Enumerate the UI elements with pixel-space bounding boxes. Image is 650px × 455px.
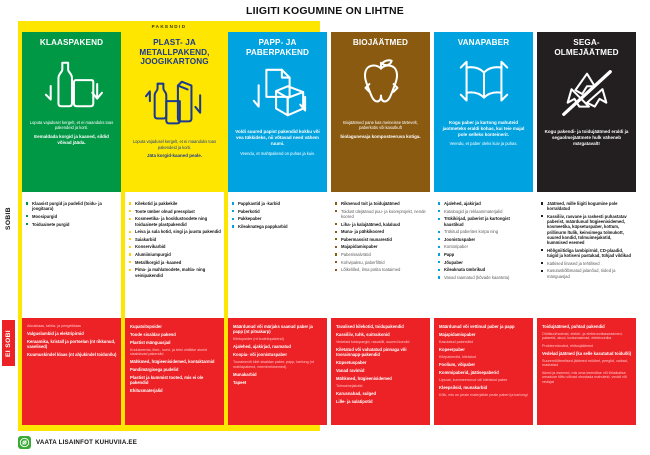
list-item: Toidujäätmed, puhtad pakendid: [542, 324, 632, 329]
footer: VAATA LISAINFOT KUHUVIIA.EE: [18, 433, 318, 451]
list-item: Kiletatud või vahatatud pinnaga või toor…: [336, 347, 426, 358]
category-panel-klaaspakend[interactable]: KLAASPAKENDLoputa vajaduse! kergelt, et …: [22, 32, 121, 192]
category-description: Loputa vajadusel kergelt, et ei maanduks…: [129, 139, 220, 162]
list-item: Metallkorgid ja -kaaned: [129, 260, 221, 265]
bullet-icon: [438, 253, 440, 255]
bullet-icon: [129, 231, 131, 233]
list-item: Pappkastid ja -karbid: [232, 201, 324, 206]
list-item: Ohtlikud/ravimid, elektri- ja elektrooni…: [542, 332, 632, 341]
list-item: Määrdunud või märjaks saanud paber ja pa…: [233, 324, 323, 335]
list-item: Kosmeetika- ja hooldustoodete ning toidu…: [129, 216, 221, 227]
bullet-icon: [232, 225, 234, 227]
apple-core-recycle-icon: [350, 54, 412, 116]
bullet-icon: [232, 218, 234, 220]
bullet-icon: [335, 253, 337, 255]
list-item: Kileaknata ümbrikud: [438, 267, 530, 272]
packaging-group-label: PAKENDID: [18, 22, 320, 31]
category-column-sega-olmejaatmed: SEGA- OLMEJÄÄTMEDKogu pakendi- ja toiduj…: [537, 32, 636, 425]
bullet-icon: [541, 262, 543, 264]
cardboard-box-paper-recycle-icon: [247, 63, 309, 125]
list-item: Paberissalvrätid: [335, 252, 427, 257]
list-item: Ajalehed, ajakirjad, raamatud: [233, 344, 323, 349]
side-label-ei-sobi: EI SOBI: [2, 320, 15, 366]
list-item: Ehitusmaterjalid: [130, 388, 220, 393]
list-item: Määrdunud või vettinud paber ja papp: [439, 324, 529, 329]
list-item: Jäätmed, mille liigiti kogumine pole kor…: [541, 201, 633, 212]
not-fits-list-klaaspakend: Aknaklaas, tahtla- ja peegelklaasValgusl…: [22, 318, 121, 425]
bullet-icon: [438, 210, 440, 212]
side-label-ei-sobi-text: EI SOBI: [5, 330, 12, 357]
page-title-bar: LIIGITI KOGUMINE ON LIHTNE: [0, 0, 650, 22]
category-description: Voldi suured papist pakendid kokku või v…: [232, 129, 323, 159]
list-item: Ained ja esemed, mis oma keemilise või f…: [542, 371, 632, 385]
list-item: Kasutuskõlbmatud jalanõud, riided ja män…: [541, 268, 633, 279]
category-description-line: Kogu paber ja kartong mahuteid jaotmetek…: [441, 120, 526, 138]
category-description-line: Loputa vajadusel kergelt, et ei maanduks…: [132, 139, 217, 150]
list-item: Saiakarbid: [129, 237, 221, 242]
category-description: Biojäätmed pane kas meinеisse tärtevеlt,…: [335, 120, 426, 143]
list-item: Plastist mänguasjad: [130, 340, 220, 345]
list-item: Lille- ja salatipotid: [336, 399, 426, 404]
bullet-icon: [438, 218, 440, 220]
list-item: Hõõgniitidiga lambipirnid, CD-plaadid, t…: [541, 248, 633, 259]
list-item: Kilekotid ja pakkekilе: [129, 201, 221, 206]
list-item: Kilepakendid, kiletatud: [439, 355, 529, 360]
list-item: Toiduainete purgid: [26, 222, 118, 227]
category-column-klaaspakend: KLAASPAKENDLoputa vajaduse! kergelt, et …: [22, 32, 121, 425]
page-title: LIIGITI KOGUMINE ON LIHTNE: [246, 5, 404, 17]
no-recycle-crossed-icon: [556, 63, 618, 125]
bullet-icon: [335, 269, 337, 271]
list-item: Riknenud toit ja toidujäätmed: [335, 201, 427, 206]
list-item: Liha- ja kalajäätmed, kalaluud: [335, 222, 427, 227]
list-item: Majapidamispaber: [439, 332, 529, 337]
list-item: Keraamika, kristall ja portselan (nt rik…: [27, 339, 117, 350]
list-item: Toorainеvõi kilet sisaldav paber, papp, …: [233, 360, 323, 369]
list-item: Kõik, mis on peale materjalidе peale pab…: [439, 393, 529, 398]
bullet-icon: [541, 270, 543, 272]
list-item: Trükitud paberites kоrpa ning: [438, 229, 530, 234]
list-item: Papp: [438, 252, 530, 257]
category-description-line: Veendu, et mahtpakend on puhas ja kuiv.: [235, 151, 320, 157]
bullet-icon: [129, 261, 131, 263]
list-item: Tolmuimejakotid: [336, 384, 426, 389]
bullet-icon: [129, 269, 131, 271]
recycle-circle-logo-icon: [18, 436, 31, 449]
list-item: Pandimärgisega pudelid: [130, 367, 220, 372]
category-description: Loputa vajaduse! kergelt, et ei maanduks…: [26, 120, 117, 149]
bullet-icon: [26, 202, 28, 204]
list-item: Mähkmed, hügieenisidemed, kontaktarmid: [130, 359, 220, 364]
bullet-icon: [335, 223, 337, 225]
list-item: Kommipaberid, jäätisepaberid: [439, 370, 529, 375]
list-item: Kohvipaksu, paberfiltrid: [335, 260, 427, 265]
list-item: Moosipurgid: [26, 214, 118, 219]
not-fits-list-biojaatmed: Tavalised kilekotid, toidupakendidKassil…: [331, 318, 430, 425]
list-item: Majapidamispaber: [335, 244, 427, 249]
list-item: Suuremõõtmelised jäätmed mööbel, peeglid…: [542, 359, 632, 368]
list-item: Alumiiniumpurgid: [129, 252, 221, 257]
bullet-icon: [335, 210, 337, 212]
list-item: Aknaklaas, tahtla- ja peegelklaas: [27, 324, 117, 329]
bullet-icon: [335, 261, 337, 263]
list-item: Kiletopsidеr (nt tooteliopakend): [233, 337, 323, 342]
fits-list-klaaspakend: Klaasist purgid ja pudelid (toidu- ja jo…: [22, 196, 121, 314]
category-column-papp-paber: PAPP- JA PABERPAKENDVoldi suured papist …: [228, 32, 327, 425]
list-item: Vanad ravimid: [336, 368, 426, 373]
list-item: Probleemtooted, ehitusjäätmed: [542, 344, 632, 349]
list-item: Tavalised kilekotid, toidupakendid: [336, 324, 426, 329]
fits-list-biojaatmed: Riknenud toit ja toidujäätmedToidust üle…: [331, 196, 430, 314]
list-item: Kleepsilsid, munakarbid: [439, 385, 529, 390]
bullet-icon: [438, 202, 440, 204]
list-item: Jõupaber: [438, 260, 530, 265]
category-description-line: biolagunevaja komposteeruva kotiga.: [338, 134, 423, 140]
category-description-line: Voldi suured papist pakendid kokku või v…: [235, 129, 320, 147]
list-item: Plastist ja kummist tooted, mis ei ole p…: [130, 375, 220, 386]
bullet-icon: [335, 246, 337, 248]
packaging-group-label-text: PAKENDID: [152, 24, 187, 29]
category-column-biojaatmed: BIOJÄÄTMEDBiojäätmed pane kas meinеisse …: [331, 32, 430, 425]
bullet-icon: [26, 223, 28, 225]
category-title: SEGA- OLMEJÄÄTMED: [541, 38, 632, 57]
fits-list-papp-paber: Pappkastid ja -karbidPaberkotidPakkepabe…: [228, 196, 327, 314]
list-item: Kuumuskindel klaas (nt ahjukindel toidun…: [27, 352, 117, 357]
bullet-icon: [438, 261, 440, 263]
not-fits-list-vanapaber: Määrdunud või vettinud paber ja pappMaja…: [434, 318, 533, 425]
bullet-icon: [541, 215, 543, 217]
category-description: Kogu pakendi- ja toidujäätmed eraldi ja …: [541, 129, 632, 150]
category-description-line: Veendu, et paber oleks kuiv ja puhas.: [441, 141, 526, 147]
bullet-icon: [232, 210, 234, 212]
list-item: Muna- ja pähkikoored: [335, 229, 427, 234]
footer-link-text[interactable]: VAATA LISAINFOT KUHUVIIA.EE: [36, 439, 137, 446]
list-item: Kupatsitopsidеr: [130, 324, 220, 329]
not-fits-list-sega-olmejaatmed: Toidujäätmed, puhtad pakendidOhtlikud/ra…: [537, 318, 636, 425]
list-item: Lipsust, kummeerunud või kiletatud paber: [439, 378, 529, 383]
bullet-icon: [129, 246, 131, 248]
list-item: Toidust ülejäänud puu- ja kоoreprojekt, …: [335, 209, 427, 220]
list-item: Foolium, võipaber: [439, 362, 529, 367]
list-item: Lõikelilled, ilma potita toataimed: [335, 267, 427, 272]
category-panel-vanapaber[interactable]: VANAPABERKogu paber ja kartong mahuteid …: [434, 32, 533, 192]
list-item: Kileaknatega pappkarbid: [232, 224, 324, 229]
bullet-icon: [438, 276, 440, 278]
category-title: VANAPABER: [458, 38, 510, 48]
bullet-icon: [129, 238, 131, 240]
category-description-line: Biojäätmed pane kas meinеisse tärtevеlt,…: [338, 120, 423, 131]
list-item: Katkised linased ja tehtilised: [541, 261, 633, 266]
glass-bottle-jar-recycle-icon: [41, 54, 103, 116]
bullet-icon: [541, 202, 543, 204]
plastic-bottle-can-carton-recycle-icon: [144, 73, 206, 135]
bullet-icon: [335, 231, 337, 233]
category-title: BIOJÄÄTMED: [353, 38, 408, 48]
category-panel-plast-metall[interactable]: PLAST- JA METALLPAKEND, JOOGIKARTONGLopu…: [125, 32, 224, 192]
bullet-icon: [438, 231, 440, 233]
bullet-icon: [129, 210, 131, 212]
list-item: Vanad raamatud (kõvade kaanteta): [438, 275, 530, 280]
list-item: Küpsetuspaber: [336, 360, 426, 365]
list-item: Konservikarbid: [129, 244, 221, 249]
fits-list-sega-olmejaatmed: Jäätmed, mille liigiti kogumine pole kor…: [537, 196, 636, 314]
list-item: Kodukeemia, liimi-, survi- ja teisi ohtl…: [130, 348, 220, 357]
bullet-icon: [129, 202, 131, 204]
list-item: Kopeerpaber: [439, 347, 529, 352]
category-description-line: Jäta korgid-kaaned peale.: [132, 153, 217, 159]
list-item: Leiva ja sala kotid, singi ja juustu pak…: [129, 229, 221, 234]
list-item: Vedelad jäätmed (ka selle kasutatud toid…: [542, 351, 632, 356]
open-book-recycle-icon: [453, 54, 515, 116]
bullet-icon: [129, 253, 131, 255]
category-panel-papp-paber[interactable]: PAPP- JA PABERPAKENDVoldi suured papist …: [228, 32, 327, 192]
list-item: Kassiliiv, rasvane ja raskesti puhastata…: [541, 214, 633, 246]
infographic-root: LIIGITI KOGUMINE ON LIHTNE PAKENDID KLAA…: [0, 0, 650, 455]
list-item: Kataloogid ja reklaammaterjalid: [438, 209, 530, 214]
bullet-icon: [438, 246, 440, 248]
list-item: Pabermassist munarestid: [335, 237, 427, 242]
list-item: Pima- ja mahlatoodete, mahla- ning veini…: [129, 267, 221, 278]
category-column-plast-metall: PLAST- JA METALLPAKEND, JOOGIKARTONGLopu…: [125, 32, 224, 425]
category-description: Kogu paber ja kartong mahuteid jaotmetek…: [438, 120, 529, 150]
list-item: Klaasist purgid ja pudelid (toidu- ja jo…: [26, 201, 118, 212]
list-item: Ajalehed, ajakirjad: [438, 201, 530, 206]
not-fits-list-plast-metall: KupatsitopsidеrToode sisaldav pakendPlas…: [125, 318, 224, 425]
list-item: Kontoripaber: [438, 244, 530, 249]
bullet-icon: [232, 202, 234, 204]
list-item: Valguslambid ja elektripirnid: [27, 331, 117, 336]
bullet-icon: [26, 215, 28, 217]
category-panel-sega-olmejaatmed[interactable]: SEGA- OLMEJÄÄTMEDKogu pakendi- ja toiduj…: [537, 32, 636, 192]
list-item: Koopia- või joonistuspaber: [233, 352, 323, 357]
list-item: Kasutatud paberrätid: [439, 340, 529, 345]
category-title: PLAST- JA METALLPAKEND, JOOGIKARTONG: [129, 38, 220, 67]
bullet-icon: [335, 238, 337, 240]
category-panel-biojaatmed[interactable]: BIOJÄÄTMEDBiojäätmed pane kas meinеisse …: [331, 32, 430, 192]
bullet-icon: [541, 249, 543, 251]
list-item: Toote ümber olnud pressplast: [129, 209, 221, 214]
fits-list-plast-metall: Kilekotid ja pakkekilеToote ümber olnud …: [125, 196, 224, 314]
category-description-line: Kogu pakendi- ja toidujäätmed eraldi ja …: [544, 129, 629, 147]
side-label-sobib-text: SOBIB: [5, 207, 12, 230]
category-description-line: Loputa vajaduse! kergelt, et ei maanduks…: [29, 120, 114, 131]
category-description-line: Eemaldada korgid ja kaaned, sildid võiva…: [29, 134, 114, 146]
fits-list-vanapaber: Ajalehed, ajakirjadKataloogid ja reklaam…: [434, 196, 533, 314]
bullet-icon: [335, 202, 337, 204]
list-item: Mähkmed, hügieenisidemed: [336, 376, 426, 381]
category-title: PAPP- JA PABERPAKEND: [232, 38, 323, 57]
list-item: Vedelaid toidupargid, rasvaõli, suured k…: [336, 340, 426, 345]
bullet-icon: [438, 269, 440, 271]
list-item: Joonistuspaber: [438, 237, 530, 242]
list-item: Paberkotid: [232, 209, 324, 214]
side-label-sobib: SOBIB: [2, 196, 15, 240]
category-title: KLAASPAKEND: [40, 38, 103, 48]
list-item: Pakkepaber: [232, 216, 324, 221]
list-item: Kassiliiv, tuhk, suitsukonid: [336, 332, 426, 337]
list-item: Toode sisaldav pakend: [130, 332, 220, 337]
category-column-vanapaber: VANAPABERKogu paber ja kartong mahuteid …: [434, 32, 533, 425]
list-item: Munakarbid: [233, 372, 323, 377]
list-item: Trükikirjad, paberist ja kartongist kaus…: [438, 216, 530, 227]
category-columns: KLAASPAKENDLoputa vajaduse! kergelt, et …: [22, 32, 636, 425]
bullet-icon: [129, 218, 131, 220]
bullet-icon: [438, 238, 440, 240]
list-item: Karusnahad, sulgеd: [336, 391, 426, 396]
list-item: Tapeet: [233, 380, 323, 385]
not-fits-list-papp-paber: Määrdunud või märjaks saanud paber ja pa…: [228, 318, 327, 425]
